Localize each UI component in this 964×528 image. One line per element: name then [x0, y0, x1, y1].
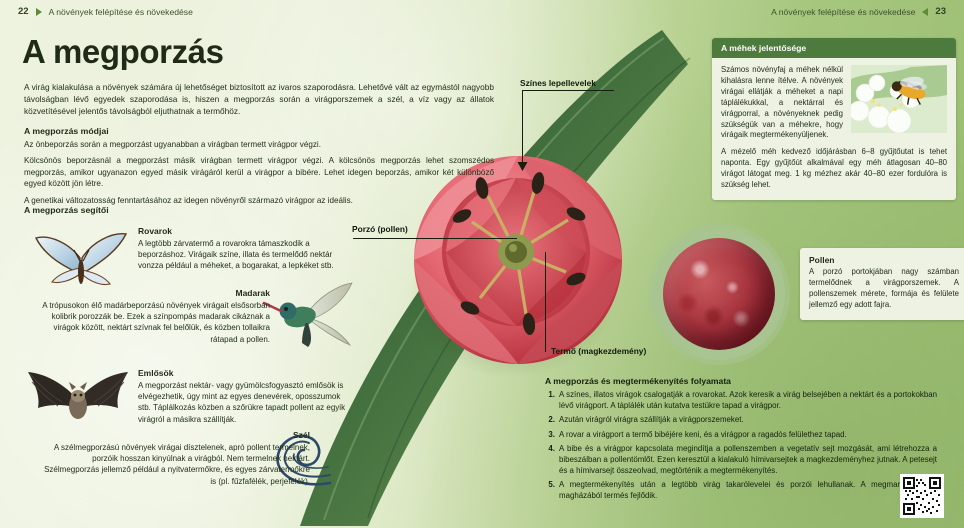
step-text: Azután virágról virágra szállítják a vir…: [559, 415, 937, 426]
pollen-box-heading: Pollen: [809, 255, 959, 265]
process-heading: A megporzás és megtermékenyítés folyamat…: [545, 376, 937, 386]
pollen-grain-sphere: [663, 238, 775, 350]
methods-paragraph-2: Kölcsönös beporzásnál a megporzást másik…: [24, 155, 494, 189]
bee-importance-box: A méhek jelentősége Számos növényfaj a m…: [712, 38, 956, 200]
leader-line-tepals-vert: [522, 90, 523, 164]
bee-box-body: Számos növényfaj a méhek nélkül kihalásr…: [712, 58, 956, 200]
bee-box-paragraph-1: Számos növényfaj a méhek nélkül kihalásr…: [721, 65, 843, 141]
intro-paragraph: A virág kialakulása a növények számára ú…: [24, 82, 494, 117]
pollen-grain-icon: [653, 228, 785, 360]
triangle-left-icon: [922, 8, 928, 16]
list-item: 5. A megtermékenyítés után a legtöbb vir…: [545, 480, 937, 502]
helper-mammals: Emlősök A megporzást nektár- vagy gyümöl…: [138, 368, 350, 425]
pollen-info-box: Pollen A porzó portokjában nagy számban …: [800, 248, 964, 320]
methods-heading: A megporzás módjai: [24, 126, 494, 136]
helper-birds: Madarak A trópusokon élő madárbeporzású …: [40, 288, 270, 345]
hummingbird-icon: [262, 281, 354, 349]
process-step-list: 1. A színes, illatos virágok csalogatják…: [545, 390, 937, 502]
bee-box-heading: A méhek jelentősége: [712, 38, 956, 58]
butterfly-icon: [28, 228, 132, 290]
pollination-methods-section: A megporzás módjai Az önbeporzás során a…: [24, 126, 494, 211]
step-number: 4.: [545, 444, 555, 477]
step-text: A bibe és a virágpor kapcsolata megindít…: [559, 444, 937, 477]
right-chapter-title: A növények felépítése és növekedése: [771, 7, 915, 17]
helpers-heading: A megporzás segítői: [24, 205, 109, 215]
methods-paragraph-1: Az önbeporzás során a megporzást ugyanab…: [24, 139, 494, 150]
list-item: 2. Azután virágról virágra szállítják a …: [545, 415, 937, 426]
step-number: 2.: [545, 415, 555, 426]
page-title: A megporzás: [22, 33, 224, 71]
helper-wind-title: Szél: [38, 430, 310, 440]
triangle-right-icon: [36, 8, 42, 16]
step-text: A színes, illatos virágok csalogatják a …: [559, 390, 937, 412]
label-pistil: Termő (magkezdemény): [551, 346, 646, 356]
helper-wind-text: A szélmegporzású növények virágai díszte…: [38, 442, 310, 487]
helper-insects: Rovarok A legtöbb zárvatermő a rovarokra…: [138, 226, 334, 272]
arrow-down-icon: [517, 160, 528, 171]
bee-box-paragraph-2: A mézelő méh kedvező időjárásban 6–8 gyű…: [721, 147, 947, 191]
label-tepals: Színes lepellevelek: [520, 78, 596, 88]
left-chapter-title: A növények felépítése és növekedése: [49, 7, 193, 17]
bee-on-flower-image: [851, 65, 947, 133]
helper-wind: Szél A szélmegporzású növények virágai d…: [38, 430, 310, 487]
helper-insects-text: A legtöbb zárvatermő a rovarokra támaszk…: [138, 238, 334, 272]
bat-icon: [22, 366, 134, 430]
step-number: 1.: [545, 390, 555, 412]
leader-line-pistil: [545, 252, 546, 352]
helper-birds-text: A trópusokon élő madárbeporzású növények…: [40, 300, 270, 345]
leader-line-stamen: [353, 238, 517, 239]
list-item: 1. A színes, illatos virágok csalogatják…: [545, 390, 937, 412]
right-page-number: 23: [935, 6, 946, 17]
step-number: 5.: [545, 480, 555, 502]
header-right: A növények felépítése és növekedése 23: [771, 6, 946, 17]
step-text: A rovar a virágport a termő bibéjére ken…: [559, 430, 937, 441]
list-item: 3. A rovar a virágport a termő bibéjére …: [545, 430, 937, 441]
step-number: 3.: [545, 430, 555, 441]
helper-mammals-text: A megporzást nektár- vagy gyümölcsfogyas…: [138, 380, 350, 425]
left-page-number: 22: [18, 6, 29, 17]
helper-insects-title: Rovarok: [138, 226, 334, 236]
process-section: A megporzás és megtermékenyítés folyamat…: [545, 376, 937, 506]
step-text: A megtermékenyítés után a legtöbb virág …: [559, 480, 937, 502]
label-stamen: Porzó (pollen): [352, 224, 408, 234]
textbook-spread: 22 A növények felépítése és növekedése A…: [0, 0, 964, 528]
qr-code-icon[interactable]: [900, 474, 944, 518]
helper-birds-title: Madarak: [40, 288, 270, 298]
page-header: 22 A növények felépítése és növekedése A…: [0, 0, 964, 26]
pollen-box-text: A porzó portokjában nagy számban termelő…: [809, 267, 959, 311]
helper-mammals-title: Emlősök: [138, 368, 350, 378]
header-left: 22 A növények felépítése és növekedése: [18, 6, 193, 17]
list-item: 4. A bibe és a virágpor kapcsolata megin…: [545, 444, 937, 477]
leader-line-tepals: [522, 90, 614, 91]
